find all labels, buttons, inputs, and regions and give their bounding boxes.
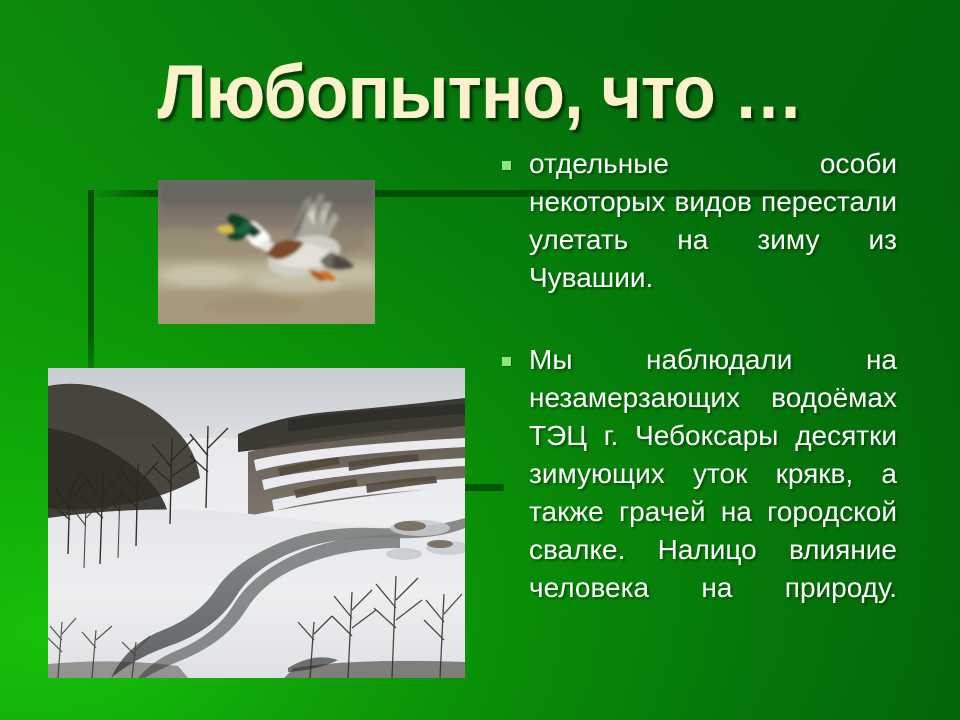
list-item: отдельные особи некоторых видов перестал… xyxy=(497,145,897,335)
vertical-divider xyxy=(88,190,94,368)
page-title: Любопытно, что … xyxy=(38,52,921,134)
square-bullet-icon xyxy=(502,161,511,170)
winter-river-landscape-photo xyxy=(48,368,465,678)
square-bullet-icon xyxy=(502,357,511,366)
list-item: Мы наблюдали на незамерзающих водоёмах Т… xyxy=(497,341,897,645)
bullet-text-1: отдельные особи некоторых видов перестал… xyxy=(529,145,897,335)
flying-mallard-duck-photo xyxy=(158,180,375,324)
presentation-slide: Любопытно, что … xyxy=(0,0,960,720)
bullet-text-2: Мы наблюдали на незамерзающих водоёмах Т… xyxy=(529,341,897,645)
slide-body: отдельные особи некоторых видов перестал… xyxy=(497,145,897,651)
